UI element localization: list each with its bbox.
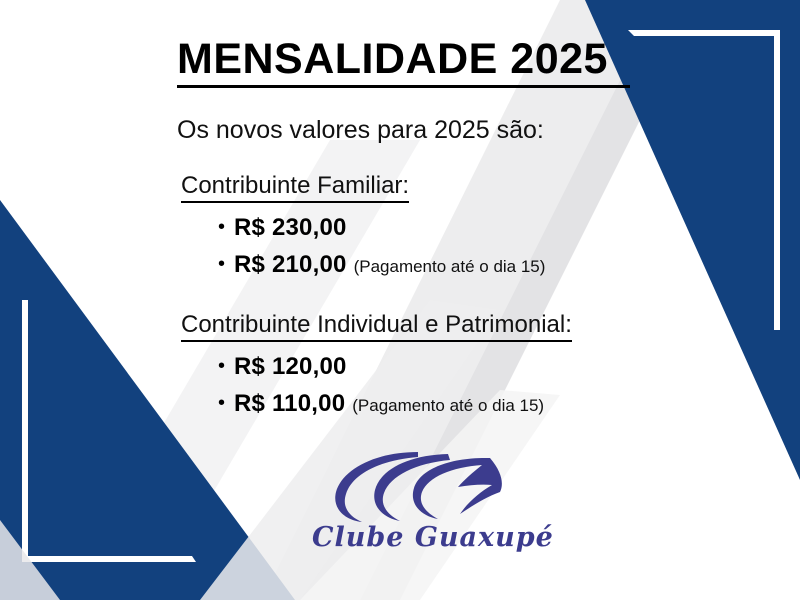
bullet-dot-icon: • — [218, 254, 225, 274]
logo: Clube Guaxupé — [312, 448, 522, 568]
section-contribuinte-familiar: Contribuinte Familiar: • R$ 230,00 • R$ … — [181, 172, 545, 288]
title-underline — [177, 85, 630, 88]
subtitle: Os novos valores para 2025 são: — [177, 116, 544, 145]
price-amount: R$ 110,00 — [234, 390, 345, 418]
list-item: • R$ 120,00 — [218, 353, 572, 381]
list-item: • R$ 110,00 (Pagamento até o dia 15) — [218, 390, 572, 418]
section-heading: Contribuinte Individual e Patrimonial: — [181, 311, 572, 342]
bullet-dot-icon: • — [218, 393, 225, 413]
section-heading: Contribuinte Familiar: — [181, 172, 409, 203]
bullet-dot-icon: • — [218, 356, 225, 376]
slide-content: MENSALIDADE 2025 Os novos valores para 2… — [0, 0, 800, 600]
price-note: (Pagamento até o dia 15) — [352, 396, 544, 416]
bullet-dot-icon: • — [218, 217, 225, 237]
list-item: • R$ 230,00 — [218, 214, 545, 242]
list-item: • R$ 210,00 (Pagamento até o dia 15) — [218, 251, 545, 279]
page-title: MENSALIDADE 2025 — [177, 36, 637, 82]
section-contribuinte-individual-patrimonial: Contribuinte Individual e Patrimonial: •… — [181, 311, 572, 427]
price-amount: R$ 120,00 — [234, 353, 347, 381]
price-list: • R$ 120,00 • R$ 110,00 (Pagamento até o… — [181, 353, 572, 418]
slide-mensalidade-2025: MENSALIDADE 2025 Os novos valores para 2… — [0, 0, 800, 600]
clube-guaxupe-swoosh-icon — [322, 448, 512, 526]
price-note: (Pagamento até o dia 15) — [354, 257, 546, 277]
logo-wordmark: Clube Guaxupé — [312, 522, 522, 553]
price-amount: R$ 210,00 — [234, 251, 347, 279]
price-list: • R$ 230,00 • R$ 210,00 (Pagamento até o… — [181, 214, 545, 279]
price-amount: R$ 230,00 — [234, 214, 347, 242]
